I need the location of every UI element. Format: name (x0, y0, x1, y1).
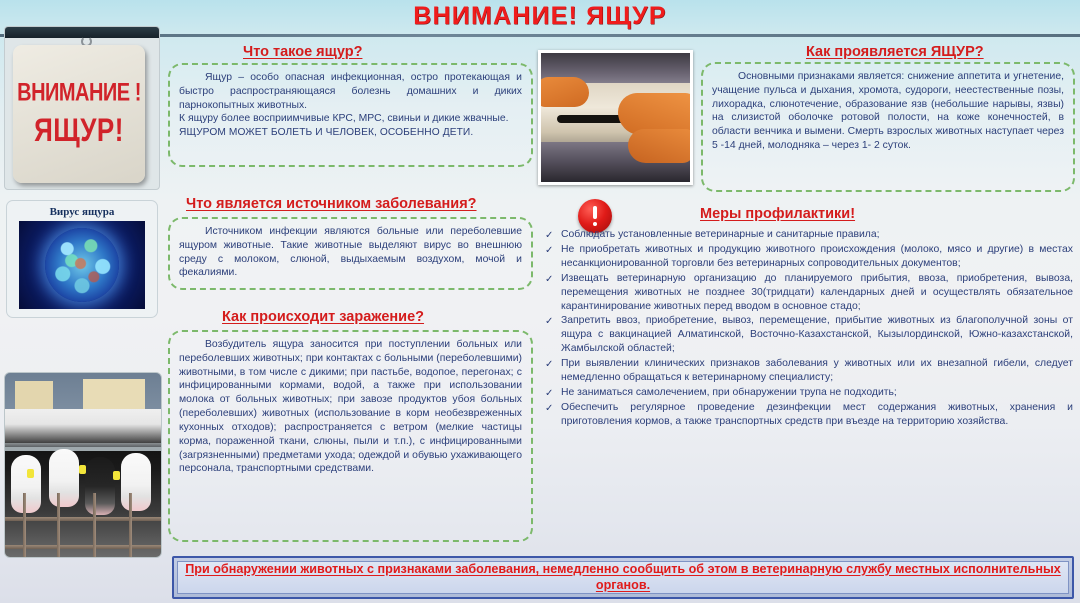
checkmark-icon: ✓ (545, 357, 561, 371)
prevention-item-text: Соблюдать установленные ветеринарные и с… (561, 228, 1073, 242)
heading-what-is: Что такое ящур? (243, 44, 362, 60)
checkmark-icon: ✓ (545, 401, 561, 415)
what-is-paragraph-3: ЯЩУРОМ МОЖЕТ БОЛЕТЬ И ЧЕЛОВЕК, ОСОБЕННО … (179, 126, 522, 140)
prevention-list: ✓Соблюдать установленные ветеринарные и … (545, 228, 1073, 430)
hoof-photo-content (541, 53, 690, 182)
checkmark-icon: ✓ (545, 314, 561, 328)
prevention-item: ✓Извещать ветеринарную организацию до пл… (545, 272, 1073, 313)
prevention-item-text: Извещать ветеринарную организацию до пла… (561, 272, 1073, 313)
prevention-item: ✓Запретить ввоз, приобретение, вывоз, пе… (545, 314, 1073, 355)
how-manifests-paragraph: Основными признаками является: снижение … (712, 70, 1064, 153)
cows-photo (4, 372, 162, 558)
prevention-item-text: Запретить ввоз, приобретение, вывоз, пер… (561, 314, 1073, 355)
cattle-fence (5, 493, 162, 558)
barn-panel-right (83, 379, 145, 411)
virus-caption: Вирус ящура (10, 204, 154, 221)
ear-tag-icon (27, 469, 34, 478)
prevention-item: ✓Не приобретать животных и продукцию жив… (545, 243, 1073, 271)
prevention-item: ✓При выявлении клинических признаков заб… (545, 357, 1073, 385)
sign-plate: ВНИМАНИЕ ! ЯЩУР! (13, 45, 145, 183)
notice-banner-inner: При обнаружении животных с признаками за… (177, 561, 1069, 594)
cow-row-back (5, 409, 162, 447)
prevention-item: ✓Соблюдать установленные ветеринарные и … (545, 228, 1073, 242)
title-divider (0, 34, 1080, 37)
virus-particle-icon (19, 221, 145, 309)
sign-line-2: ЯЩУР! (34, 111, 124, 150)
hand-icon (628, 129, 693, 163)
transmission-paragraph: Возбудитель ящура заносится при поступле… (179, 338, 522, 476)
prevention-item: ✓Обеспечить регулярное проведение дезинф… (545, 401, 1073, 429)
prevention-item-text: Обеспечить регулярное проведение дезинфе… (561, 401, 1073, 429)
virion-shape (45, 228, 119, 302)
sign-line-1: ВНИМАНИЕ ! (17, 79, 141, 108)
infected-hoof-photo (538, 50, 693, 185)
ear-tag-icon (113, 471, 120, 480)
what-is-paragraph-2: К ящуру более восприимчивые КРС, МРС, св… (179, 112, 522, 126)
prevention-item-text: При выявлении клинических признаков забо… (561, 357, 1073, 385)
virus-card: Вирус ящура (6, 200, 158, 318)
heading-source: Что является источником заболевания? (186, 196, 477, 212)
checkmark-icon: ✓ (545, 272, 561, 286)
heading-transmission: Как происходит заражение? (222, 309, 424, 325)
heading-how-manifests: Как проявляется ЯЩУР? (806, 44, 984, 60)
box-what-is: Ящур – особо опасная инфекционная, остро… (168, 63, 533, 167)
notice-banner: При обнаружении животных с признаками за… (172, 556, 1074, 599)
heading-prevention: Меры профилактики! (700, 206, 855, 222)
box-source: Источником инфекции являются больные или… (168, 217, 533, 290)
what-is-paragraph-1: Ящур – особо опасная инфекционная, остро… (179, 71, 522, 112)
source-paragraph: Источником инфекции являются больные или… (179, 225, 522, 280)
prevention-item-text: Не приобретать животных и продукцию живо… (561, 243, 1073, 271)
prevention-item-text: Не заниматься самолечением, при обнаруже… (561, 386, 1073, 400)
box-transmission: Возбудитель ящура заносится при поступле… (168, 330, 533, 542)
notice-banner-text: При обнаружении животных с признаками за… (184, 562, 1062, 593)
checkmark-icon: ✓ (545, 386, 561, 400)
page-title: ВНИМАНИЕ! ЯЩУР (0, 2, 1080, 31)
barn-rail (5, 443, 162, 447)
ear-tag-icon (79, 465, 86, 474)
prevention-item: ✓Не заниматься самолечением, при обнаруж… (545, 386, 1073, 400)
box-how-manifests: Основными признаками является: снижение … (701, 62, 1075, 192)
poster-root: ВНИМАНИЕ! ЯЩУР ВНИМАНИЕ ! ЯЩУР! Вирус ящ… (0, 0, 1080, 603)
warning-sign-image: ВНИМАНИЕ ! ЯЩУР! (4, 26, 160, 190)
checkmark-icon: ✓ (545, 243, 561, 257)
hand-icon (538, 77, 589, 107)
checkmark-icon: ✓ (545, 228, 561, 242)
barn-panel-left (15, 381, 53, 409)
